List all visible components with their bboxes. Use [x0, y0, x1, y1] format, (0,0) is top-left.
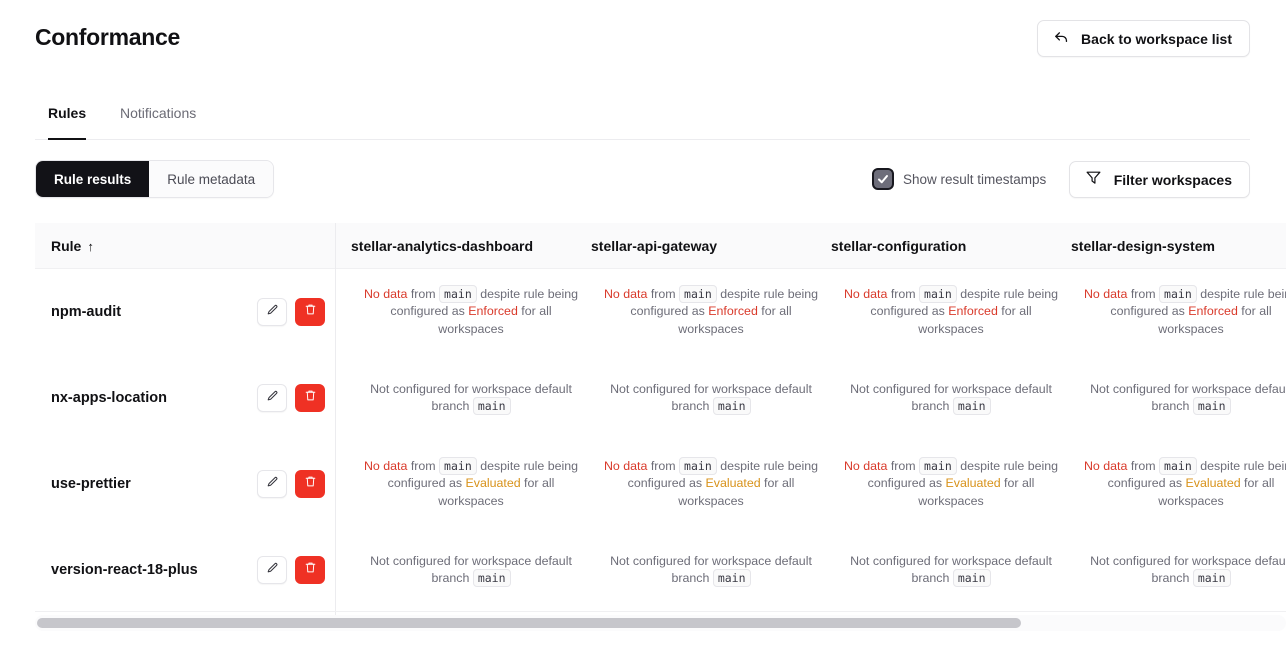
result-cell[interactable]: No data from main despite rule being con…: [351, 269, 591, 355]
page-header: Conformance Back to workspace list: [0, 0, 1286, 86]
result-status-text: No data: [844, 287, 887, 301]
horizontal-scrollbar-thumb[interactable]: [37, 618, 1021, 628]
table-row: npm-auditNo data from main despite rule …: [35, 269, 1286, 355]
edit-rule-button[interactable]: [257, 470, 287, 498]
rule-actions: [257, 384, 325, 412]
back-to-workspace-list-label: Back to workspace list: [1081, 31, 1232, 47]
rule-cell: nx-apps-location: [51, 355, 335, 441]
result-message: Not configured for workspace default bra…: [597, 553, 825, 588]
result-message: No data from main despite rule being con…: [837, 458, 1065, 511]
branch-badge: main: [953, 397, 991, 415]
branch-badge: main: [473, 569, 511, 587]
conformance-results-table: Rule↑stellar-analytics-dashboardstellar-…: [35, 223, 1286, 619]
result-message: Not configured for workspace default bra…: [1077, 553, 1286, 588]
result-status-text: No data: [604, 287, 647, 301]
sort-ascending-icon: ↑: [87, 239, 94, 254]
result-text: from: [647, 287, 679, 301]
result-text: Not configured for workspace default bra…: [370, 554, 572, 586]
result-mode-text: Evaluated: [705, 476, 760, 490]
column-header-workspace-label: stellar-design-system: [1071, 238, 1215, 254]
view-mode-segmented-control: Rule results Rule metadata: [35, 160, 274, 198]
result-message: Not configured for workspace default bra…: [357, 381, 585, 416]
branch-badge: main: [439, 285, 477, 303]
result-message: Not configured for workspace default bra…: [837, 381, 1065, 416]
column-header-workspace[interactable]: stellar-api-gateway: [591, 223, 717, 269]
segment-rule-metadata-label: Rule metadata: [167, 172, 255, 187]
delete-rule-button[interactable]: [295, 470, 325, 498]
branch-badge: main: [919, 457, 957, 475]
pencil-icon: [266, 561, 279, 579]
result-message: Not configured for workspace default bra…: [357, 553, 585, 588]
result-text: from: [647, 459, 679, 473]
show-result-timestamps-checkbox[interactable]: Show result timestamps: [872, 162, 1046, 196]
funnel-icon: [1085, 169, 1102, 191]
result-cell[interactable]: Not configured for workspace default bra…: [1071, 355, 1286, 441]
pencil-icon: [266, 389, 279, 407]
result-message: No data from main despite rule being con…: [597, 286, 825, 339]
tabs-divider: [35, 139, 1250, 140]
trash-icon: [304, 389, 317, 407]
table-row: nx-apps-locationNot configured for works…: [35, 355, 1286, 441]
pencil-icon: [266, 303, 279, 321]
conformance-page: Conformance Back to workspace list Rules…: [0, 0, 1286, 667]
table-header-row: Rule↑stellar-analytics-dashboardstellar-…: [35, 223, 1286, 269]
segment-rule-results-label: Rule results: [54, 172, 131, 187]
result-message: No data from main despite rule being con…: [357, 286, 585, 339]
table-bottom-border: [35, 611, 1286, 612]
result-status-text: No data: [844, 459, 887, 473]
result-status-text: No data: [604, 459, 647, 473]
checkbox-checked-icon: [872, 168, 894, 190]
edit-rule-button[interactable]: [257, 384, 287, 412]
branch-badge: main: [679, 457, 717, 475]
result-text: Not configured for workspace default bra…: [370, 382, 572, 414]
result-message: No data from main despite rule being con…: [357, 458, 585, 511]
delete-rule-button[interactable]: [295, 384, 325, 412]
column-header-workspace-label: stellar-api-gateway: [591, 238, 717, 254]
tab-rules[interactable]: Rules: [48, 104, 86, 140]
column-header-workspace[interactable]: stellar-analytics-dashboard: [351, 223, 533, 269]
result-cell[interactable]: Not configured for workspace default bra…: [351, 527, 591, 613]
result-cell[interactable]: No data from main despite rule being con…: [831, 269, 1071, 355]
rule-cell: version-react-18-plus: [51, 527, 335, 613]
rule-name: version-react-18-plus: [51, 562, 198, 578]
horizontal-scrollbar-track[interactable]: [35, 615, 1286, 631]
result-cell[interactable]: No data from main despite rule being con…: [1071, 269, 1286, 355]
result-status-text: No data: [364, 287, 407, 301]
result-cell[interactable]: No data from main despite rule being con…: [831, 441, 1071, 527]
trash-icon: [304, 561, 317, 579]
segment-rule-results[interactable]: Rule results: [36, 161, 149, 197]
rule-name: nx-apps-location: [51, 390, 167, 406]
back-to-workspace-list-button[interactable]: Back to workspace list: [1037, 20, 1250, 57]
column-header-workspace-label: stellar-analytics-dashboard: [351, 238, 533, 254]
branch-badge: main: [1159, 285, 1197, 303]
rule-actions: [257, 470, 325, 498]
result-cell[interactable]: Not configured for workspace default bra…: [591, 355, 831, 441]
result-status-text: No data: [364, 459, 407, 473]
branch-badge: main: [919, 285, 957, 303]
result-text: from: [887, 459, 919, 473]
result-mode-text: Evaluated: [1185, 476, 1240, 490]
result-text: from: [887, 287, 919, 301]
branch-badge: main: [1193, 569, 1231, 587]
tab-rules-label: Rules: [48, 105, 86, 121]
result-message: No data from main despite rule being con…: [597, 458, 825, 511]
rule-cell: use-prettier: [51, 441, 335, 527]
branch-badge: main: [713, 569, 751, 587]
result-cell[interactable]: No data from main despite rule being con…: [1071, 441, 1286, 527]
result-message: Not configured for workspace default bra…: [1077, 381, 1286, 416]
column-header-rule-label: Rule: [51, 238, 81, 254]
result-cell[interactable]: Not configured for workspace default bra…: [831, 527, 1071, 613]
result-message: No data from main despite rule being con…: [837, 286, 1065, 339]
tab-notifications[interactable]: Notifications: [120, 104, 196, 140]
result-text: Not configured for workspace default bra…: [1090, 382, 1286, 414]
edit-rule-button[interactable]: [257, 556, 287, 584]
result-cell[interactable]: No data from main despite rule being con…: [591, 441, 831, 527]
filter-workspaces-button[interactable]: Filter workspaces: [1069, 161, 1250, 198]
rule-cell: npm-audit: [51, 269, 335, 355]
result-text: from: [407, 287, 439, 301]
result-cell[interactable]: Not configured for workspace default bra…: [1071, 527, 1286, 613]
result-mode-text: Evaluated: [465, 476, 520, 490]
rule-actions: [257, 298, 325, 326]
column-header-workspace[interactable]: stellar-configuration: [831, 223, 966, 269]
result-cell[interactable]: No data from main despite rule being con…: [351, 441, 591, 527]
table-toolbar: Rule results Rule metadata Show result t…: [0, 160, 1286, 200]
rule-actions: [257, 556, 325, 584]
tab-notifications-label: Notifications: [120, 105, 196, 121]
column-header-workspace[interactable]: stellar-design-system: [1071, 223, 1215, 269]
branch-badge: main: [679, 285, 717, 303]
result-cell[interactable]: Not configured for workspace default bra…: [591, 527, 831, 613]
result-status-text: No data: [1084, 459, 1127, 473]
edit-rule-button[interactable]: [257, 298, 287, 326]
result-mode-text: Evaluated: [945, 476, 1000, 490]
result-mode-text: Enforced: [468, 304, 518, 318]
trash-icon: [304, 475, 317, 493]
branch-badge: main: [439, 457, 477, 475]
result-mode-text: Enforced: [708, 304, 758, 318]
branch-badge: main: [953, 569, 991, 587]
table-row: use-prettierNo data from main despite ru…: [35, 441, 1286, 527]
rule-name: use-prettier: [51, 476, 131, 492]
branch-badge: main: [713, 397, 751, 415]
result-text: Not configured for workspace default bra…: [610, 554, 812, 586]
result-cell[interactable]: Not configured for workspace default bra…: [351, 355, 591, 441]
result-text: from: [1127, 459, 1159, 473]
pencil-icon: [266, 475, 279, 493]
result-message: Not configured for workspace default bra…: [597, 381, 825, 416]
result-text: from: [407, 459, 439, 473]
delete-rule-button[interactable]: [295, 298, 325, 326]
result-text: from: [1127, 287, 1159, 301]
primary-tabs: Rules Notifications: [0, 104, 1286, 140]
filter-workspaces-label: Filter workspaces: [1114, 172, 1232, 188]
result-message: Not configured for workspace default bra…: [837, 553, 1065, 588]
page-title: Conformance: [35, 24, 180, 51]
trash-icon: [304, 303, 317, 321]
column-header-rule[interactable]: Rule↑: [51, 223, 94, 269]
table-row: version-react-18-plusNot configured for …: [35, 527, 1286, 613]
result-text: Not configured for workspace default bra…: [610, 382, 812, 414]
branch-badge: main: [1193, 397, 1231, 415]
result-message: No data from main despite rule being con…: [1077, 286, 1286, 339]
branch-badge: main: [473, 397, 511, 415]
delete-rule-button[interactable]: [295, 556, 325, 584]
arrow-uturn-left-icon: [1053, 30, 1070, 47]
result-cell[interactable]: Not configured for workspace default bra…: [831, 355, 1071, 441]
rule-name: npm-audit: [51, 304, 121, 320]
result-mode-text: Enforced: [948, 304, 998, 318]
branch-badge: main: [1159, 457, 1197, 475]
show-result-timestamps-label: Show result timestamps: [903, 172, 1046, 187]
result-text: Not configured for workspace default bra…: [850, 382, 1052, 414]
result-text: Not configured for workspace default bra…: [850, 554, 1052, 586]
result-message: No data from main despite rule being con…: [1077, 458, 1286, 511]
result-cell[interactable]: No data from main despite rule being con…: [591, 269, 831, 355]
result-mode-text: Enforced: [1188, 304, 1238, 318]
result-status-text: No data: [1084, 287, 1127, 301]
segment-rule-metadata[interactable]: Rule metadata: [149, 161, 273, 197]
result-text: Not configured for workspace default bra…: [1090, 554, 1286, 586]
column-header-workspace-label: stellar-configuration: [831, 238, 966, 254]
